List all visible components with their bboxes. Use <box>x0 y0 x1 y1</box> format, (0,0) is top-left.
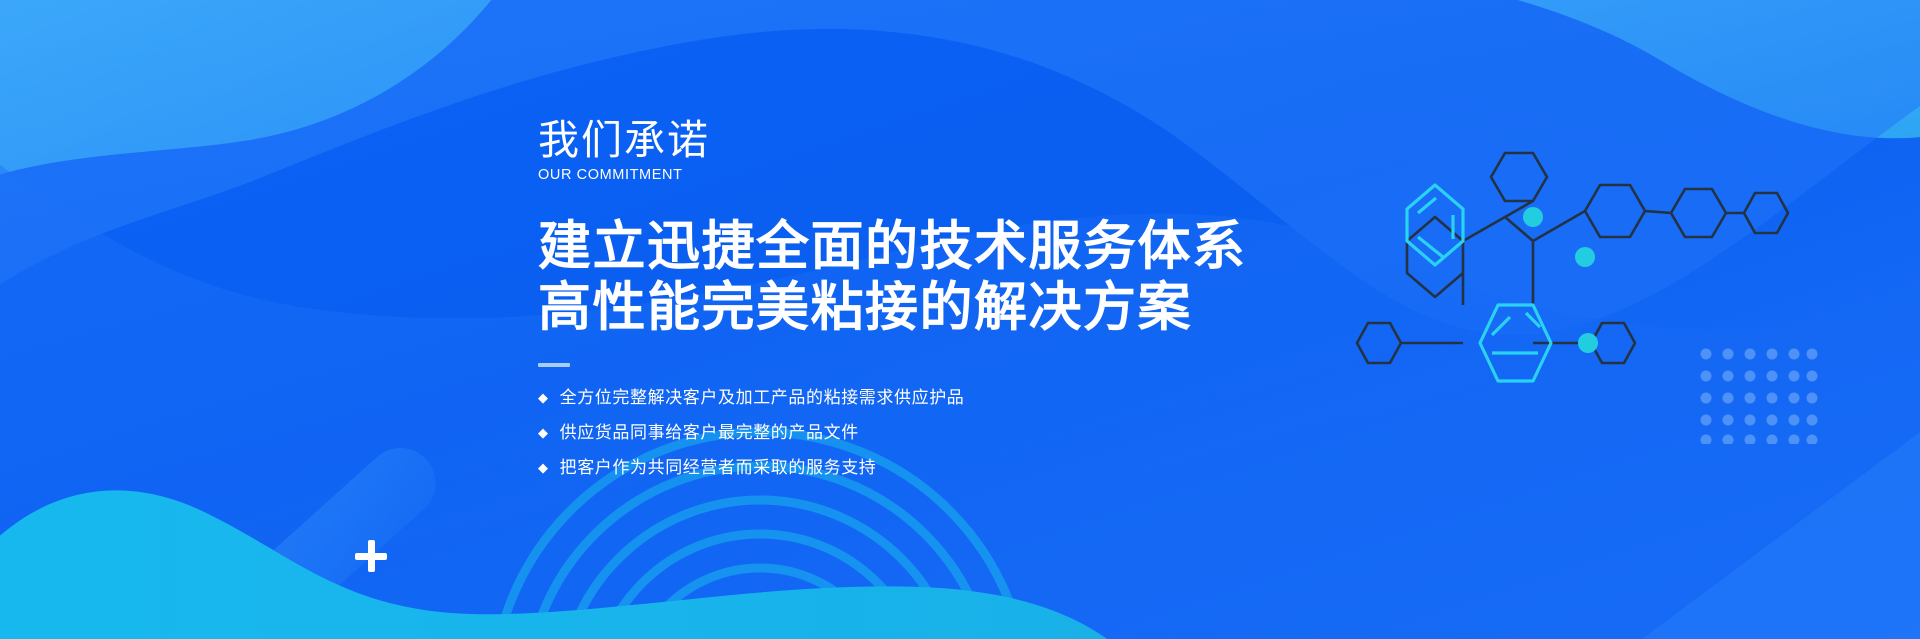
bond-1 <box>1463 217 1505 241</box>
wave-cyan-bottom-left <box>0 490 1160 639</box>
list-item: ◆ 把客户作为共同经营者而采取的服务支持 <box>538 457 1358 480</box>
hexagon-dark-right-a <box>1585 185 1645 237</box>
hexagon-dark-bottom-left <box>1357 323 1401 363</box>
hexagon-dark-top <box>1491 153 1547 201</box>
node-dot-1 <box>1523 207 1543 227</box>
headline: 建立迅捷全面的技术服务体系 高性能完美粘接的解决方案 <box>538 216 1358 339</box>
list-item-label: 供应货品同事给客户最完整的产品文件 <box>560 422 859 445</box>
divider-rule <box>538 363 570 367</box>
wave-cyan-top-right <box>1340 0 1920 138</box>
hexagon-cyan-upper <box>1407 185 1463 265</box>
dot-grid-pattern <box>1700 348 1818 444</box>
bond-5 <box>1645 211 1671 213</box>
diamond-icon: ◆ <box>538 461 549 474</box>
headline-line-2: 高性能完美粘接的解决方案 <box>538 277 1358 338</box>
node-dot-3 <box>1578 333 1598 353</box>
list-item: ◆ 全方位完整解决客户及加工产品的粘接需求供应护品 <box>538 387 1358 410</box>
list-item-label: 全方位完整解决客户及加工产品的粘接需求供应护品 <box>560 387 965 410</box>
list-item: ◆ 供应货品同事给客户最完整的产品文件 <box>538 422 1358 445</box>
eyebrow-title-en: OUR COMMITMENT <box>538 167 1358 183</box>
plus-icon <box>355 540 387 572</box>
commitment-list: ◆ 全方位完整解决客户及加工产品的粘接需求供应护品 ◆ 供应货品同事给客户最完整… <box>538 387 1358 480</box>
banner-content: 我们承诺 OUR COMMITMENT 建立迅捷全面的技术服务体系 高性能完美粘… <box>538 118 1358 496</box>
hexagon-dark-right-b <box>1671 189 1726 237</box>
wave-cyan-top-left <box>0 0 520 196</box>
eyebrow-title-cn: 我们承诺 <box>538 118 1358 164</box>
diamond-icon: ◆ <box>538 426 549 439</box>
node-dot-2 <box>1575 247 1595 267</box>
promo-banner: 我们承诺 OUR COMMITMENT 建立迅捷全面的技术服务体系 高性能完美粘… <box>0 0 1920 639</box>
hexagon-dark-right-c <box>1744 193 1788 233</box>
diamond-icon: ◆ <box>538 391 549 404</box>
list-item-label: 把客户作为共同经营者而采取的服务支持 <box>560 457 877 480</box>
headline-line-1: 建立迅捷全面的技术服务体系 <box>538 216 1358 277</box>
diagonal-bar <box>180 434 450 639</box>
